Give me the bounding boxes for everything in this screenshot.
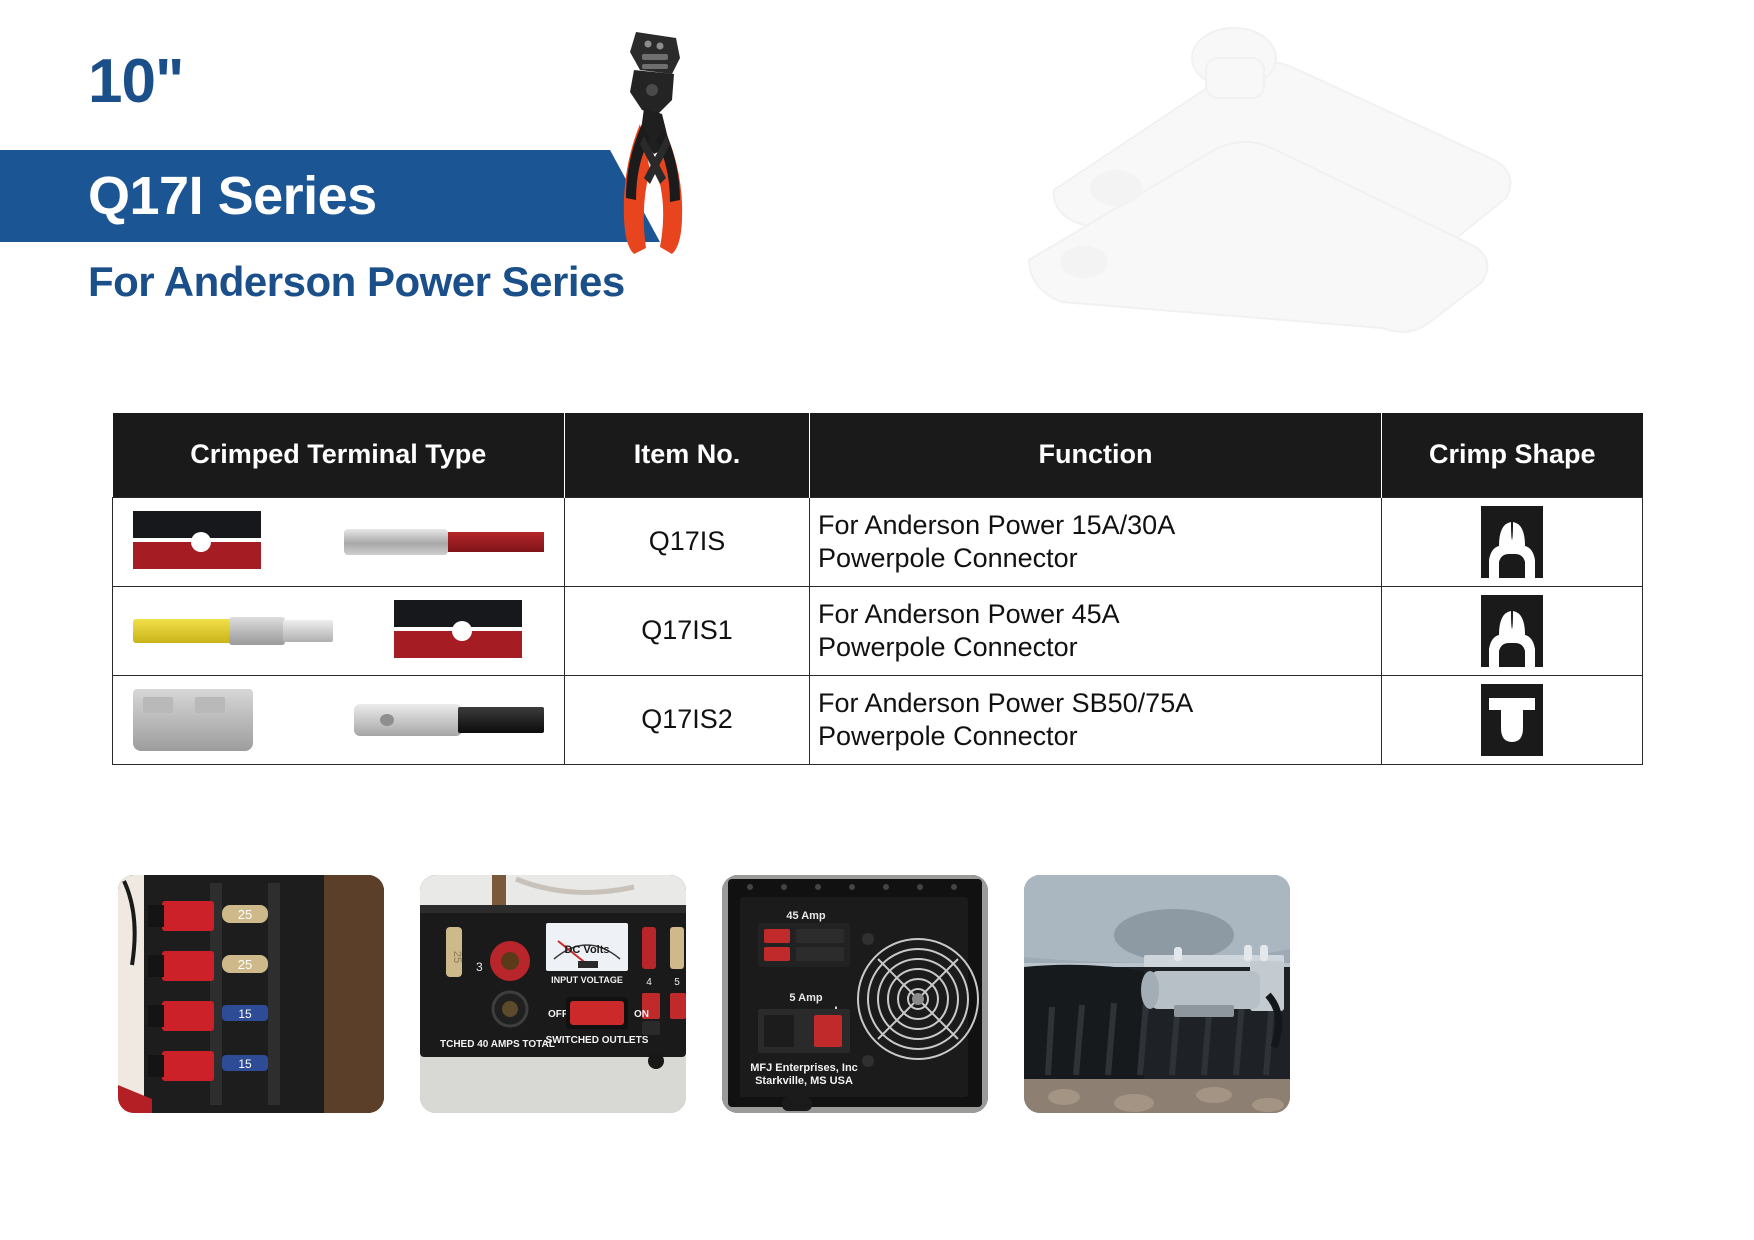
- function-line-2: Powerpole Connector: [818, 631, 1373, 664]
- w-crimp-double-hump-icon: [1481, 595, 1543, 667]
- series-banner: Q17I Series: [0, 150, 660, 242]
- svg-text:3: 3: [476, 960, 483, 974]
- table-row: Q17IS1 For Anderson Power 45A Powerpole …: [113, 586, 1643, 675]
- page-subtitle: For Anderson Power Series: [88, 258, 625, 306]
- item-no-cell: Q17IS1: [565, 586, 810, 675]
- svg-text:25: 25: [238, 957, 252, 972]
- svg-text:45 Amp: 45 Amp: [786, 910, 826, 922]
- svg-text:25: 25: [451, 951, 463, 963]
- function-line-1: For Anderson Power 45A: [818, 598, 1373, 631]
- fuse-block-powerpole-photo: 25 25 15 15: [118, 875, 384, 1113]
- dc-power-panel-photo: 25 3 DC Volts INPUT VOLTAGE 4 5 OFF: [420, 875, 686, 1113]
- item-no-cell: Q17IS: [565, 497, 810, 586]
- crimping-tool-watermark-icon: [934, 10, 1554, 370]
- svg-text:ON: ON: [634, 1009, 649, 1020]
- svg-text:5: 5: [674, 977, 680, 988]
- column-header-crimp-shape: Crimp Shape: [1382, 413, 1643, 497]
- svg-text:OFF: OFF: [548, 1009, 568, 1020]
- column-header-terminal-type: Crimped Terminal Type: [113, 413, 565, 497]
- svg-text:DC Volts: DC Volts: [564, 944, 609, 956]
- sb-connector-grey-housing-icon: [133, 689, 253, 751]
- powerpole-housing-black-red-icon: [394, 600, 544, 662]
- table-row: Q17IS2 For Anderson Power SB50/75A Power…: [113, 675, 1643, 764]
- function-line-1: For Anderson Power SB50/75A: [818, 687, 1373, 720]
- page-header: 10" Q17I Series For Anderson Power Serie…: [0, 0, 900, 360]
- svg-text:INPUT VOLTAGE: INPUT VOLTAGE: [551, 975, 623, 985]
- powerpole-contact-red-wire-icon: [344, 525, 544, 559]
- crimping-tool-photo-icon: [600, 28, 710, 258]
- terminal-type-cell: [113, 586, 565, 675]
- specification-table: Crimped Terminal Type Item No. Function …: [112, 413, 1643, 765]
- column-header-function: Function: [810, 413, 1382, 497]
- u-crimp-icon: [1481, 684, 1543, 756]
- powerpole-housing-black-red-icon: [133, 511, 283, 573]
- terminal-type-cell: [113, 675, 565, 764]
- function-line-1: For Anderson Power 15A/30A: [818, 509, 1373, 542]
- column-header-item-no: Item No.: [565, 413, 810, 497]
- sb-contact-lug-black-cable-icon: [354, 702, 544, 738]
- application-photo-gallery: 25 25 15 15 25 3: [118, 875, 1290, 1113]
- crimp-shape-cell: [1382, 675, 1643, 764]
- svg-text:MFJ Enterprises, Inc: MFJ Enterprises, Inc: [750, 1062, 858, 1074]
- svg-text:15: 15: [238, 1057, 252, 1071]
- svg-text:15: 15: [238, 1007, 252, 1021]
- table-row: Q17IS For Anderson Power 15A/30A Powerpo…: [113, 497, 1643, 586]
- svg-text:5 Amp: 5 Amp: [789, 992, 822, 1004]
- function-line-2: Powerpole Connector: [818, 542, 1373, 575]
- svg-text:SWITCHED OUTLETS: SWITCHED OUTLETS: [546, 1035, 649, 1046]
- function-cell: For Anderson Power 15A/30A Powerpole Con…: [810, 497, 1382, 586]
- mfj-power-supply-rear-photo: 45 Amp + - 5 Amp - + MFJ Enterprises, In…: [722, 875, 988, 1113]
- svg-text:4: 4: [646, 977, 652, 988]
- crimp-shape-cell: [1382, 497, 1643, 586]
- w-crimp-double-hump-icon: [1481, 506, 1543, 578]
- terminal-type-cell: [113, 497, 565, 586]
- vehicle-mounted-connector-photo: [1024, 875, 1290, 1113]
- function-line-2: Powerpole Connector: [818, 720, 1373, 753]
- item-no-cell: Q17IS2: [565, 675, 810, 764]
- powerpole-contact-yellow-wire-icon: [133, 614, 333, 648]
- function-cell: For Anderson Power 45A Powerpole Connect…: [810, 586, 1382, 675]
- series-title: Q17I Series: [88, 165, 377, 227]
- size-label: 10": [88, 46, 183, 117]
- crimp-shape-cell: [1382, 586, 1643, 675]
- svg-text:TCHED 40 AMPS TOTAL: TCHED 40 AMPS TOTAL: [440, 1039, 555, 1050]
- svg-text:Starkville, MS USA: Starkville, MS USA: [755, 1075, 853, 1087]
- function-cell: For Anderson Power SB50/75A Powerpole Co…: [810, 675, 1382, 764]
- table-header-row: Crimped Terminal Type Item No. Function …: [113, 413, 1643, 497]
- svg-text:25: 25: [238, 907, 252, 922]
